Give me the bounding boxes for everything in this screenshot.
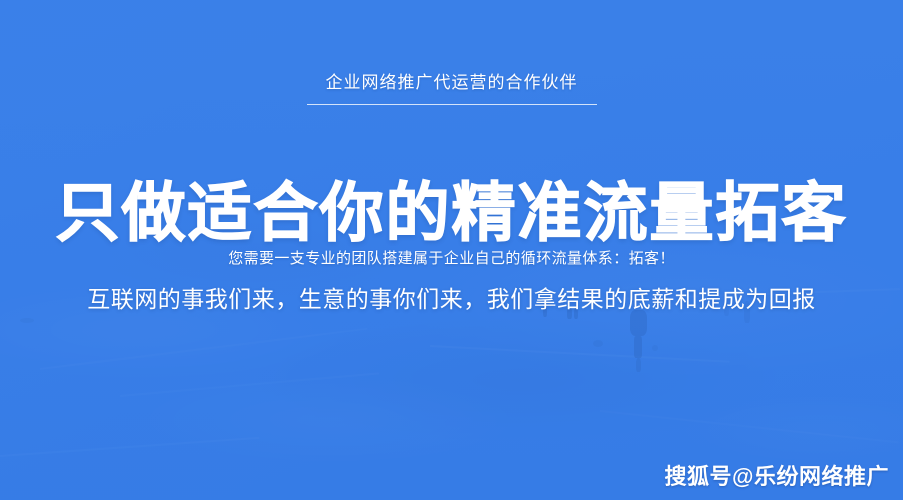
banner-tagline: 互联网的事我们来，生意的事你们来，我们拿结果的底薪和提成为回报 [0, 283, 903, 315]
banner-eyebrow: 企业网络推广代运营的合作伙伴 [0, 71, 903, 95]
source-watermark: 搜狐号@乐纷网络推广 [665, 462, 889, 492]
banner-content: 企业网络推广代运营的合作伙伴 只做适合你的精准流量拓客 您需要一支专业的团队搭建… [0, 0, 903, 500]
eyebrow-divider [307, 104, 597, 105]
banner-subheadline: 您需要一支专业的团队搭建属于企业自己的循环流量体系：拓客！ [0, 248, 903, 270]
promo-banner: 企业网络推广代运营的合作伙伴 只做适合你的精准流量拓客 您需要一支专业的团队搭建… [0, 0, 903, 500]
banner-headline: 只做适合你的精准流量拓客 [0, 176, 903, 250]
